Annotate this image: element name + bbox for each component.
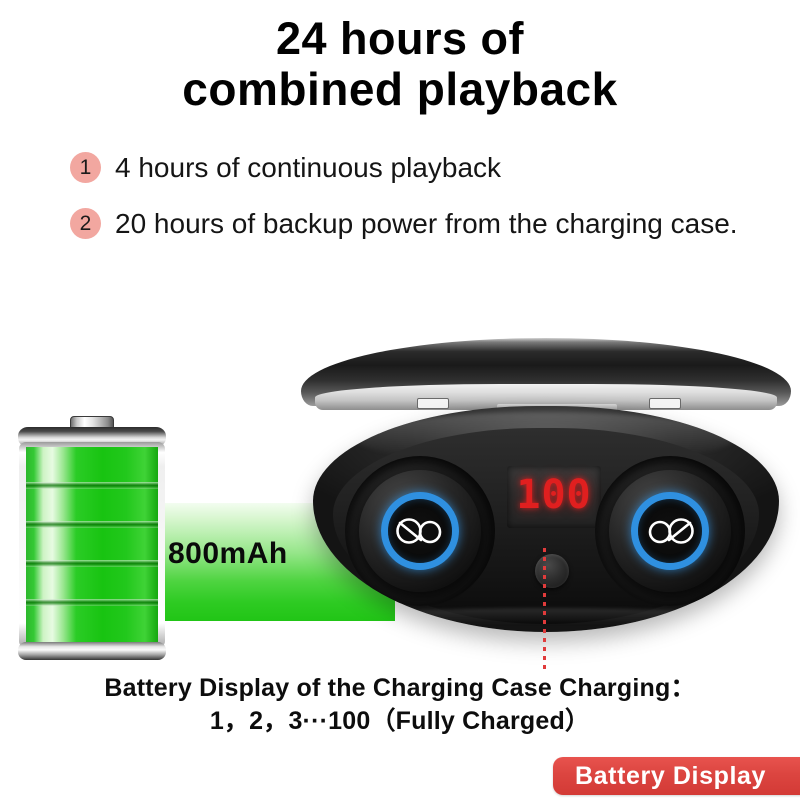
earbud-right (609, 470, 731, 592)
feature-item-2: 2 20 hours of backup power from the char… (70, 204, 750, 244)
case-body: 100 (313, 406, 779, 632)
headline-line-2: combined playback (0, 64, 800, 114)
callout-dotted-line (543, 548, 546, 673)
battery-segment-divider (26, 599, 158, 606)
battery-display-badge: Battery Display (553, 757, 800, 795)
led-battery-value: 100 (507, 472, 601, 518)
battery-fill (26, 447, 158, 643)
battery-segment-divider (26, 521, 158, 528)
page-title: 24 hours of combined playback (0, 14, 800, 114)
battery-display-badge-label: Battery Display (553, 757, 800, 795)
feature-number-badge-2: 2 (70, 208, 101, 239)
battery-segment-divider (26, 560, 158, 567)
case-lid-clip-left (417, 398, 449, 409)
caption-line-1: Battery Display of the Charging Case Cha… (0, 672, 800, 704)
caption-block: Battery Display of the Charging Case Cha… (0, 672, 800, 738)
battery-segment-divider (26, 482, 158, 489)
feature-text-1: 4 hours of continuous playback (115, 148, 750, 188)
led-display-panel: 100 (507, 466, 601, 528)
headline-line-1: 24 hours of (0, 14, 800, 64)
infinity-logo-icon (394, 516, 446, 546)
feature-text-2: 20 hours of backup power from the chargi… (115, 204, 750, 244)
battery-bottom-rim (18, 642, 166, 660)
feature-number-badge-1: 1 (70, 152, 101, 183)
feature-list: 1 4 hours of continuous playback 2 20 ho… (70, 148, 750, 260)
case-bottom-edge (357, 608, 737, 626)
feature-item-1: 1 4 hours of continuous playback (70, 148, 750, 188)
earbud-cavity-right (595, 456, 745, 606)
battery-body (19, 442, 165, 648)
caption-line-2: 1，2，3···100（Fully Charged） (0, 704, 800, 738)
earbud-cavity-left (345, 456, 495, 606)
pairing-button[interactable] (535, 554, 569, 588)
earbud-led-ring-right (631, 492, 709, 570)
case-lid-clip-right (649, 398, 681, 409)
infinity-logo-mirrored-icon (644, 516, 696, 546)
earbud-left (359, 470, 481, 592)
earbud-led-ring-left (381, 492, 459, 570)
battery-icon (12, 416, 172, 666)
product-infographic: 24 hours of combined playback 1 4 hours … (0, 0, 800, 800)
